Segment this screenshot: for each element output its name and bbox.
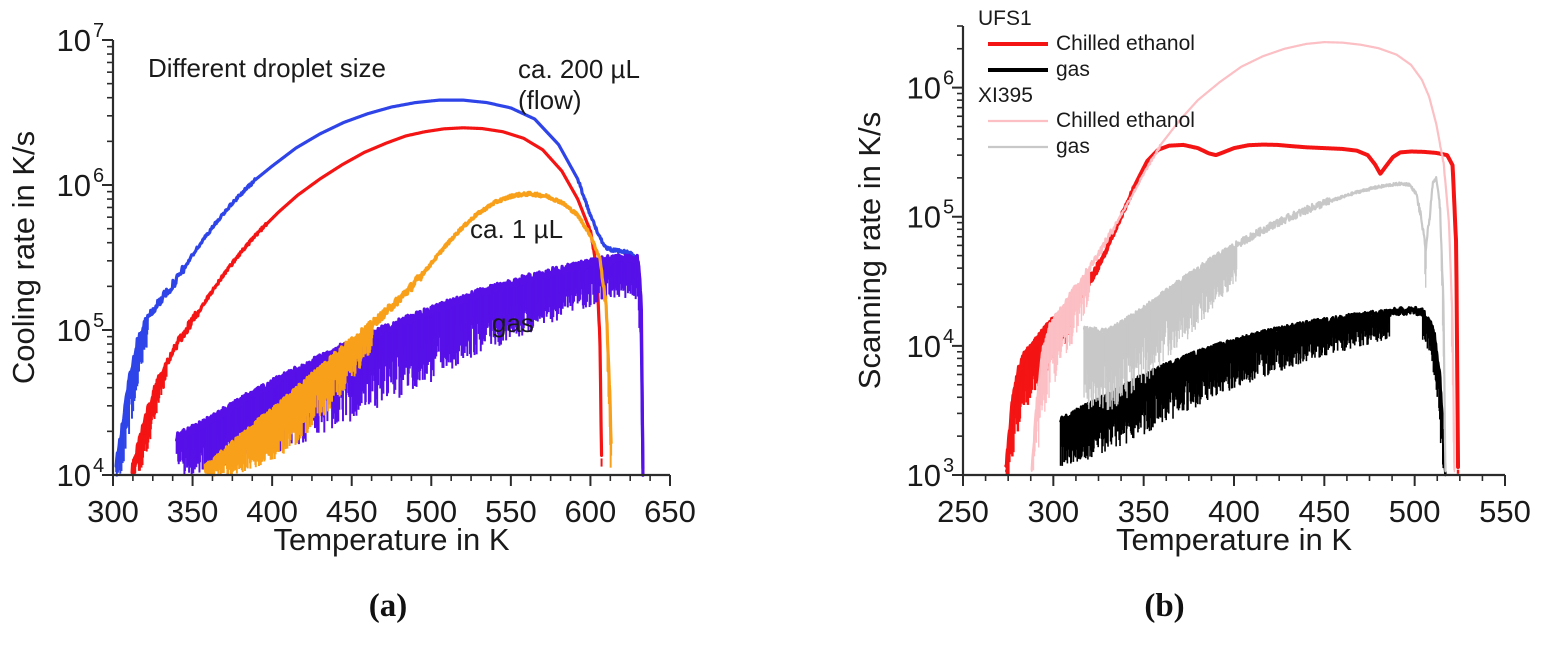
annotation-200ul: ca. 200 µL (518, 54, 640, 84)
svg-text:10: 10 (57, 313, 91, 348)
x-tick-label: 600 (565, 494, 617, 529)
y-tick-label: 104 (57, 455, 105, 493)
svg-text:3: 3 (943, 455, 954, 477)
axis-lines (113, 40, 670, 475)
annotation-droplet-size: Different droplet size (148, 53, 386, 83)
x-tick-label: 250 (937, 494, 989, 529)
panel-a-ylabel: Cooling rate in K/s (6, 131, 41, 384)
legend-label: Chilled ethanol (1056, 32, 1195, 55)
svg-text:6: 6 (93, 165, 104, 187)
annotation-1ul: ca. 1 µL (470, 214, 563, 244)
annotation-flow: (flow) (518, 85, 582, 115)
caption-a: (a) (0, 588, 776, 625)
svg-text:10: 10 (57, 168, 91, 203)
legend-group-xi395: XI395 (978, 84, 1033, 107)
svg-text:10: 10 (907, 71, 941, 106)
svg-text:5: 5 (93, 310, 104, 332)
chart-panel-a: 300350400450500550600650104105106107Temp… (0, 0, 776, 671)
y-tick-label: 104 (907, 326, 955, 364)
y-tick-label: 105 (907, 197, 955, 235)
x-tick-label: 650 (644, 494, 696, 529)
panel-a-xlabel: Temperature in K (273, 522, 509, 557)
panel-b-plot: 250300350400450500550103104105106Tempera… (776, 0, 1553, 580)
y-tick-label: 106 (57, 165, 105, 203)
legend-group-ufs1: UFS1 (978, 7, 1032, 30)
legend-label: gas (1056, 58, 1090, 81)
x-tick-label: 300 (87, 494, 139, 529)
panel-b-xlabel: Temperature in K (1116, 522, 1352, 557)
svg-text:10: 10 (907, 200, 941, 235)
chart-panel-b: 250300350400450500550103104105106Tempera… (776, 0, 1553, 671)
figure-root: 300350400450500550600650104105106107Temp… (0, 0, 1553, 671)
x-tick-label: 300 (1027, 494, 1079, 529)
x-tick-label: 350 (167, 494, 219, 529)
legend-label: gas (1056, 135, 1090, 158)
x-tick-label: 500 (1389, 494, 1441, 529)
x-tick-label: 550 (1479, 494, 1531, 529)
svg-text:6: 6 (943, 68, 954, 90)
caption-b: (b) (776, 588, 1553, 625)
y-tick-label: 106 (907, 68, 955, 106)
y-tick-label: 105 (57, 310, 105, 348)
legend-label: Chilled ethanol (1056, 109, 1195, 132)
y-tick-label: 107 (57, 20, 105, 58)
svg-text:10: 10 (57, 23, 91, 58)
svg-text:5: 5 (943, 197, 954, 219)
svg-text:10: 10 (907, 458, 941, 493)
panel-b-ylabel: Scanning rate in K/s (852, 112, 887, 389)
svg-text:4: 4 (943, 326, 954, 348)
svg-text:10: 10 (907, 329, 941, 364)
panel-a-plot: 300350400450500550600650104105106107Temp… (0, 0, 776, 580)
svg-text:7: 7 (93, 20, 104, 42)
annotation-gas: gas (492, 308, 534, 338)
panel-b-legend: UFS1Chilled ethanolgasXI395Chilled ethan… (978, 7, 1195, 158)
svg-text:10: 10 (57, 458, 91, 493)
y-tick-label: 103 (907, 455, 955, 493)
svg-text:4: 4 (93, 455, 104, 477)
